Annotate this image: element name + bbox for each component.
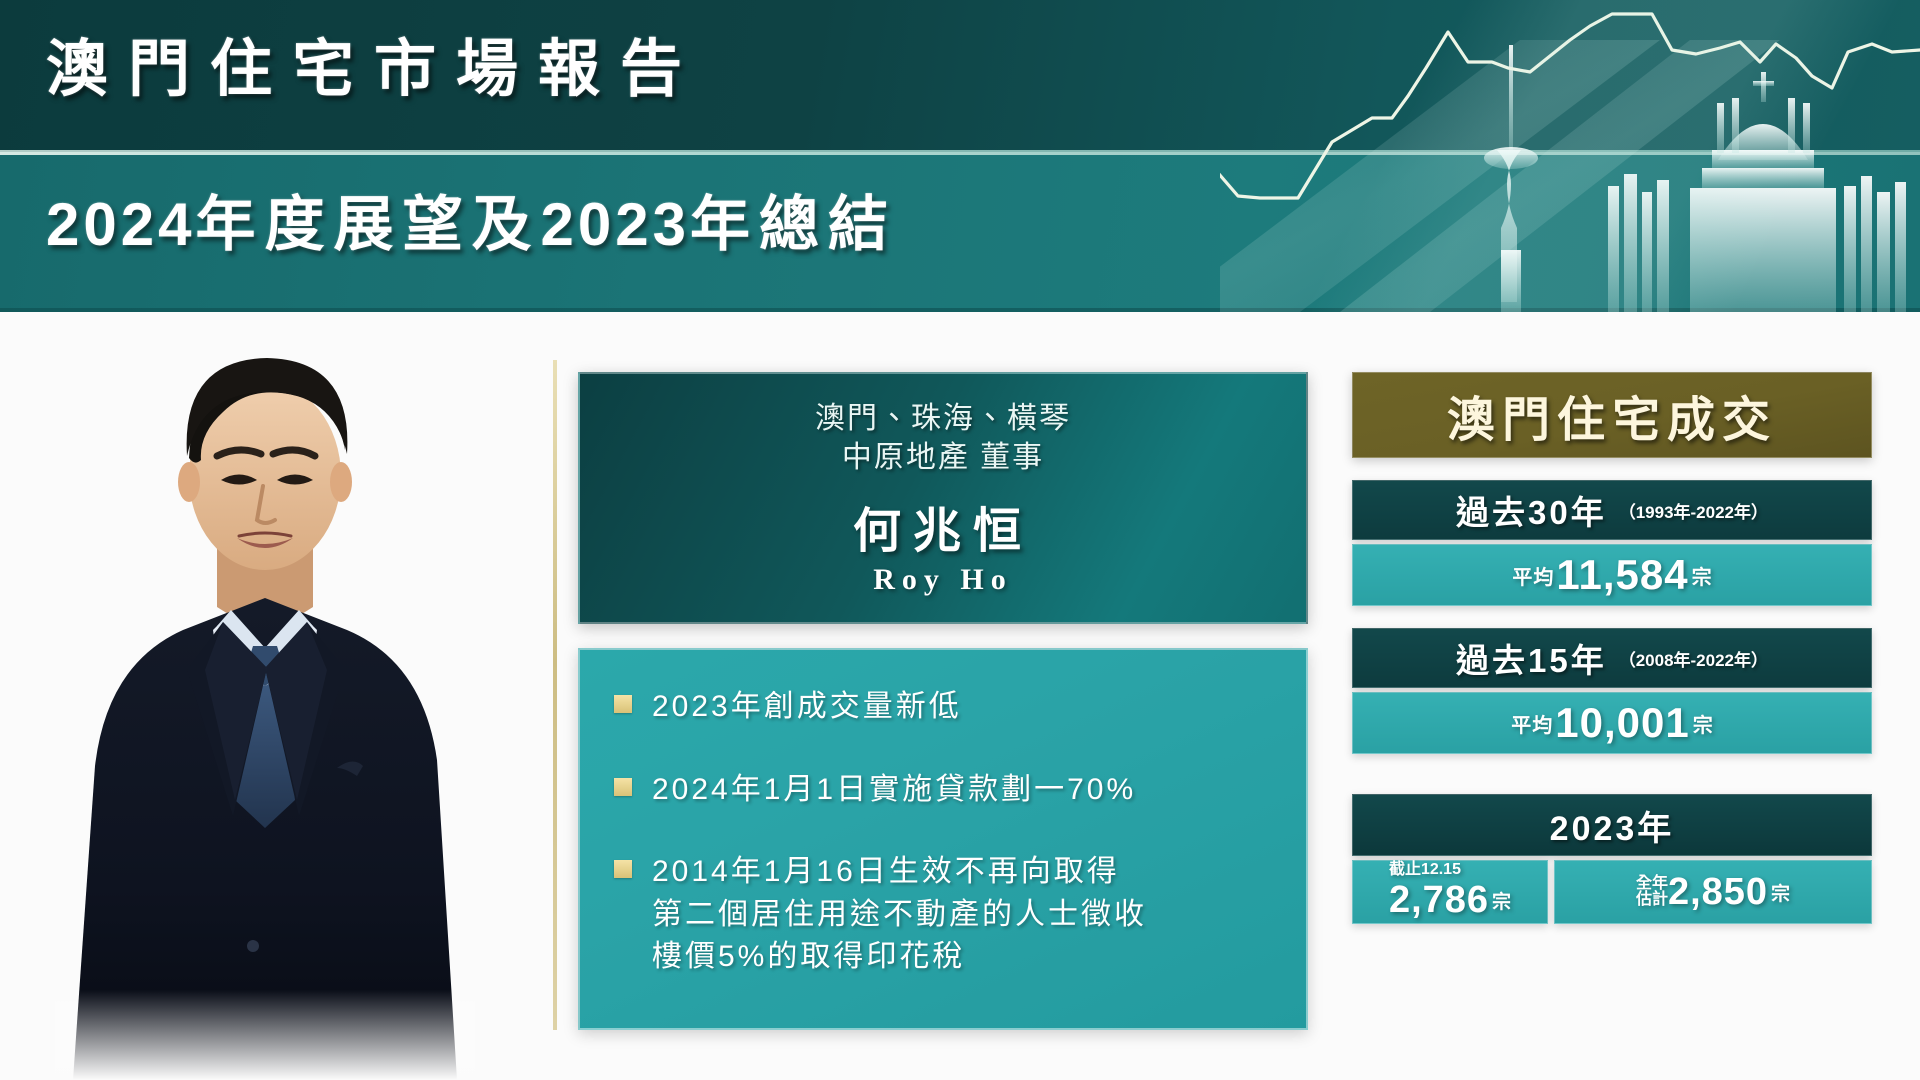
page-title: 澳門住宅市場報告 (46, 18, 702, 108)
stat-cell-ytd-unit: 宗 (1492, 887, 1511, 914)
subtitle-mid-text: 年度展望及 (195, 191, 540, 258)
stat-label-range: （2008年-2022年） (1619, 646, 1768, 671)
stat-group-past-15-years: 過去15年 （2008年-2022年） 平均 10,001 宗 (1352, 628, 1872, 754)
stat-value-prefix: 平均 (1512, 561, 1554, 590)
key-points-card: 2023年創成交量新低 2024年1月1日實施貸款劃一70% 2014年1月16… (578, 648, 1308, 1030)
stat-cell-ytd-number: 2,786 (1389, 879, 1489, 922)
list-item: 2024年1月1日實施貸款劃一70% (614, 769, 1280, 812)
stat-label-range: （1993年-2022年） (1619, 498, 1768, 523)
stat-cell-ytd-caption: 截止12.15 (1389, 862, 1461, 879)
stat-label-row: 過去30年 （1993年-2022年） (1352, 480, 1872, 540)
bullet-2-line-1: 2024年1月1日實施貸款劃一70% (652, 773, 1136, 806)
stat-value-unit: 宗 (1693, 709, 1713, 738)
subtitle-tail-text: 年總結 (690, 191, 897, 258)
stat-cell-forecast-unit: 宗 (1771, 879, 1790, 906)
stat-value-row: 平均 11,584 宗 (1352, 544, 1872, 606)
ruins-of-st-pauls-silhouette (1690, 72, 1836, 312)
gold-divider-rule (553, 360, 557, 1030)
square-bullet-icon (614, 695, 632, 713)
stat-cell-forecast-caption-line2: 估計 (1636, 892, 1668, 908)
stat-cell-forecast-caption-line1: 全年 (1636, 876, 1668, 892)
list-item: 2023年創成交量新低 (614, 686, 1280, 729)
list-item-text: 2023年創成交量新低 (652, 686, 962, 729)
stat-cell-forecast-number: 2,850 (1668, 871, 1768, 914)
presenter-name-cn: 何兆恒 (853, 491, 1033, 561)
bullet-3-line-3: 樓價5%的取得印花稅 (652, 936, 1147, 979)
bullet-3-line-1: 2014年1月16日生效不再向取得 (652, 851, 1147, 894)
stat-label-main: 過去30年 (1456, 486, 1607, 534)
presenter-name-card: 澳門、珠海、橫琴 中原地產 董事 何兆恒 Roy Ho (578, 372, 1308, 624)
stat-label-main: 過去15年 (1456, 634, 1607, 682)
stat-cell-forecast: 全年 估計 2,850 宗 (1554, 860, 1872, 924)
bullet-3-line-2: 第二個居住用途不動產的人士徵收 (652, 894, 1147, 937)
header-banner: 澳門住宅市場報告 2024年度展望及2023年總結 (0, 0, 1920, 312)
subtitle-year-2024: 2024 (46, 191, 195, 258)
bullet-1-line-1: 2023年創成交量新低 (652, 690, 962, 723)
stat-value-prefix: 平均 (1511, 709, 1553, 738)
stat-year-values-row: 截止12.15 2,786 宗 全年 估計 2,850 宗 (1352, 860, 1872, 924)
list-item: 2014年1月16日生效不再向取得 第二個居住用途不動產的人士徵收 樓價5%的取… (614, 851, 1280, 979)
stat-year-label: 2023年 (1352, 794, 1872, 856)
stat-value-number: 10,001 (1555, 699, 1689, 747)
list-item-text: 2024年1月1日實施貸款劃一70% (652, 769, 1136, 812)
stat-value-unit: 宗 (1692, 561, 1712, 590)
presenter-role-line1: 澳門、珠海、橫琴 (815, 399, 1071, 438)
stat-value-row: 平均 10,001 宗 (1352, 692, 1872, 754)
banner-artwork (1220, 0, 1920, 312)
list-item-text: 2014年1月16日生效不再向取得 第二個居住用途不動產的人士徵收 樓價5%的取… (652, 851, 1147, 979)
stat-cell-ytd: 截止12.15 2,786 宗 (1352, 860, 1548, 924)
stat-cell-forecast-caption: 全年 估計 (1636, 876, 1668, 909)
subtitle-year-2023: 2023 (540, 191, 689, 258)
stat-label-row: 過去15年 （2008年-2022年） (1352, 628, 1872, 688)
stat-group-past-30-years: 過去30年 （1993年-2022年） 平均 11,584 宗 (1352, 480, 1872, 606)
square-bullet-icon (614, 860, 632, 878)
stats-panel-header: 澳門住宅成交 (1352, 372, 1872, 458)
stats-panel: 澳門住宅成交 過去30年 （1993年-2022年） 平均 11,584 宗 過… (1352, 372, 1872, 924)
square-bullet-icon (614, 778, 632, 796)
presenter-role: 澳門、珠海、橫琴 中原地產 董事 (815, 399, 1071, 477)
page-subtitle: 2024年度展望及2023年總結 (46, 176, 897, 263)
stat-value-number: 11,584 (1556, 551, 1688, 599)
presenter-name-en: Roy Ho (873, 563, 1013, 597)
presenter-role-line2: 中原地產 董事 (815, 438, 1071, 477)
presenter-photo (55, 330, 475, 1080)
slide-root: 澳門住宅市場報告 2024年度展望及2023年總結 (0, 0, 1920, 1080)
